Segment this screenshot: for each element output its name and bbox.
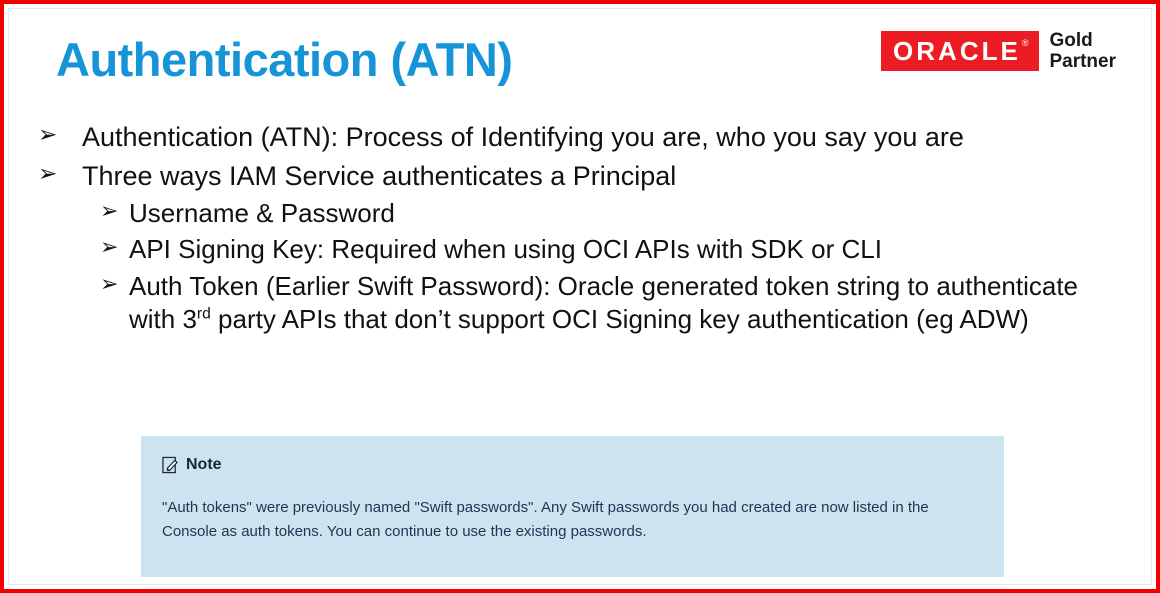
sub-list-item-superscript: rd [197,305,211,322]
arrow-bullet-icon: ➢ [100,233,129,261]
sub-list-item-text-post: party APIs that don’t support OCI Signin… [211,304,1029,334]
list-item-label: Three ways IAM Service authenticates a P… [82,159,1128,194]
arrow-bullet-icon: ➢ [38,120,82,149]
bullet-list: ➢ Authentication (ATN): Process of Ident… [30,120,1128,339]
arrow-bullet-icon: ➢ [100,197,129,225]
sub-list-item: ➢ API Signing Key: Required when using O… [30,233,1128,266]
note-callout: Note "Auth tokens" were previously named… [141,436,1004,577]
list-item: ➢ Authentication (ATN): Process of Ident… [30,120,1128,155]
oracle-gold-partner-logo: ORACLE ® Gold Partner [881,30,1116,73]
sub-list-item-label: Username & Password [129,197,1128,230]
note-header: Note [141,436,1004,474]
registered-trademark-icon: ® [1022,39,1029,48]
sub-list-item-text-pre: Username & Password [129,198,395,228]
sub-list-item-label: Auth Token (Earlier Swift Password): Ora… [129,270,1128,337]
partner-tier-line2: Partner [1049,51,1116,72]
slide-content-area: Authentication (ATN) ORACLE ® Gold Partn… [8,8,1152,585]
oracle-logo-badge: ORACLE ® [881,31,1039,71]
list-item: ➢ Three ways IAM Service authenticates a… [30,159,1128,194]
sub-list-item: ➢ Username & Password [30,197,1128,230]
partner-tier-label: Gold Partner [1049,30,1116,73]
oracle-wordmark: ORACLE [893,38,1021,64]
pencil-note-icon [162,456,179,474]
sub-list-item-label: API Signing Key: Required when using OCI… [129,233,1128,266]
arrow-bullet-icon: ➢ [38,159,82,188]
list-item-label: Authentication (ATN): Process of Identif… [82,120,1128,155]
partner-tier-line1: Gold [1049,30,1116,51]
slide-canvas: Authentication (ATN) ORACLE ® Gold Partn… [0,0,1160,593]
page-title: Authentication (ATN) [56,32,512,87]
note-body-text: "Auth tokens" were previously named "Swi… [141,474,1004,545]
sub-list-item: ➢ Auth Token (Earlier Swift Password): O… [30,270,1128,337]
sub-list-item-text-pre: API Signing Key: Required when using OCI… [129,234,882,264]
arrow-bullet-icon: ➢ [100,270,129,298]
note-title: Note [186,456,222,474]
